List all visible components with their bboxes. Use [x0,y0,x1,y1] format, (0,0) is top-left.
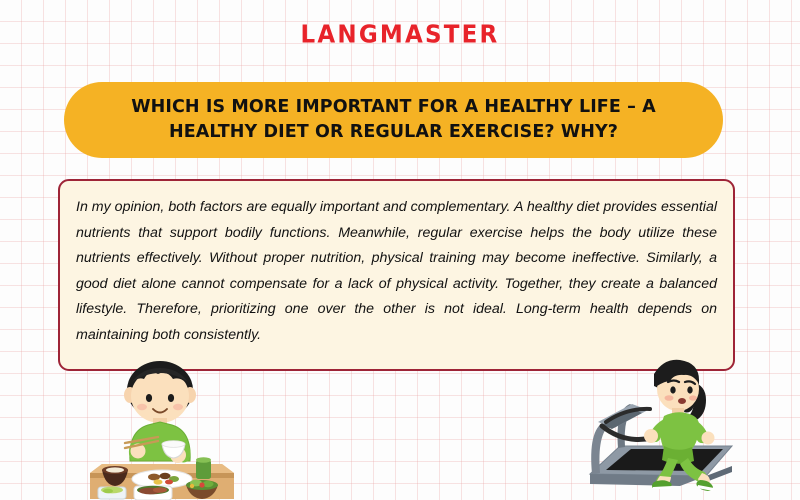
answer-paragraph: In my opinion, both factors are equally … [76,195,717,348]
boy-eating-meal-illustration [70,358,250,500]
langmaster-logo: LANGMASTER [0,23,800,48]
answer-box: In my opinion, both factors are equally … [58,179,735,371]
woman-treadmill-illustration [572,356,764,500]
question-title: WHICH IS MORE IMPORTANT FOR A HEALTHY LI… [100,95,687,146]
page-canvas: LANGMASTER WHICH IS MORE IMPORTANT FOR A… [0,0,800,500]
question-banner: WHICH IS MORE IMPORTANT FOR A HEALTHY LI… [64,82,723,158]
